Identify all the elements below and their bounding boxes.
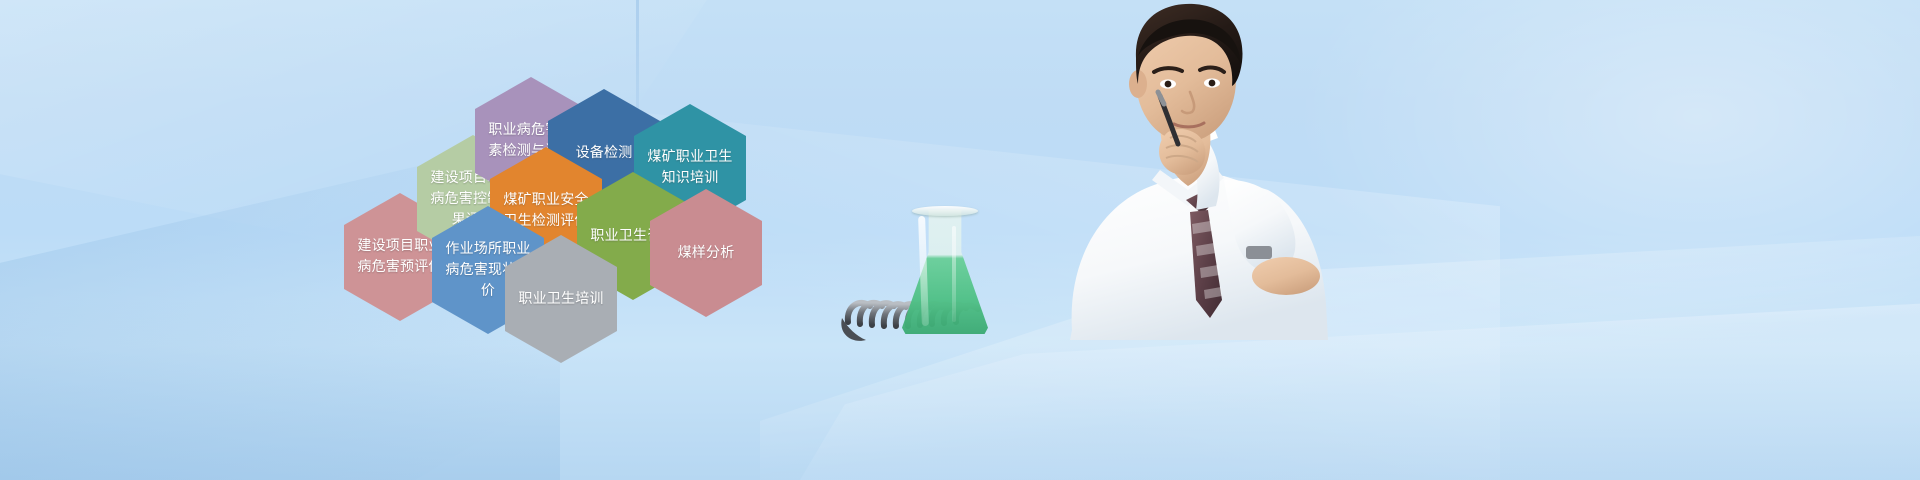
hex-label: 建设项目职业病危害预评价	[355, 236, 445, 278]
resting-hand	[1252, 257, 1320, 295]
wristwatch	[1246, 246, 1272, 259]
flask-rim	[912, 206, 978, 216]
eye-right-pupil	[1209, 80, 1216, 87]
seated-businessman	[1010, 0, 1350, 340]
hexagon-cluster: 建设项目职业病危害预评价建设项目职业病危害控制效果评价职业病危害因素检测与评价设…	[0, 0, 920, 400]
hex-label: 职业卫生培训	[518, 289, 603, 310]
hex-label: 设备检测	[576, 143, 633, 164]
hex-label: 煤样分析	[678, 243, 735, 264]
banner-root: 建设项目职业病危害预评价建设项目职业病危害控制效果评价职业病危害因素检测与评价设…	[0, 0, 1920, 480]
hex-label: 煤矿职业卫生知识培训	[645, 147, 735, 189]
eye-left-pupil	[1165, 81, 1172, 88]
flask-highlight-right	[952, 226, 956, 322]
background-glow	[1280, 0, 1920, 360]
